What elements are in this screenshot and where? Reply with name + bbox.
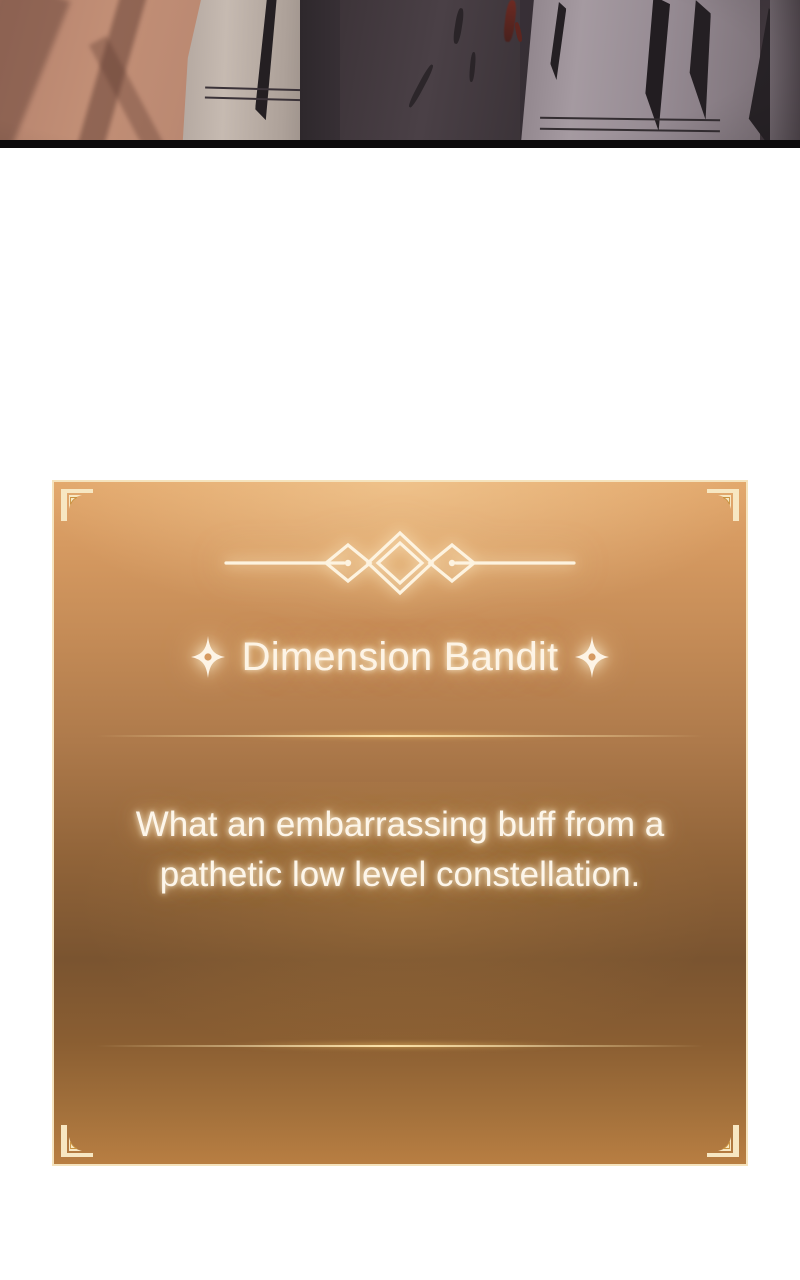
glow-divider-bottom (96, 1044, 705, 1047)
panel-bottom-rule (0, 140, 800, 148)
panel-message-row: What an embarrassing buff from a patheti… (54, 800, 746, 900)
panel-title: Dimension Bandit (242, 635, 559, 680)
panel-message: What an embarrassing buff from a patheti… (124, 800, 676, 900)
sparkle-icon (575, 636, 609, 678)
status-window-panel: Dimension Bandit What an embarrassing bu… (52, 480, 748, 1166)
comic-panel-image (0, 0, 800, 148)
corner-ornament-icon (706, 488, 740, 522)
panel-title-row: Dimension Bandit (54, 622, 746, 692)
comic-artwork (0, 0, 800, 148)
vignette-overlay (0, 0, 800, 148)
corner-ornament-icon (60, 488, 94, 522)
sparkle-icon (191, 636, 225, 678)
corner-ornament-icon (60, 1124, 94, 1158)
diamond-divider-ornament (54, 524, 746, 602)
glow-divider-top (96, 734, 705, 737)
corner-ornament-icon (706, 1124, 740, 1158)
